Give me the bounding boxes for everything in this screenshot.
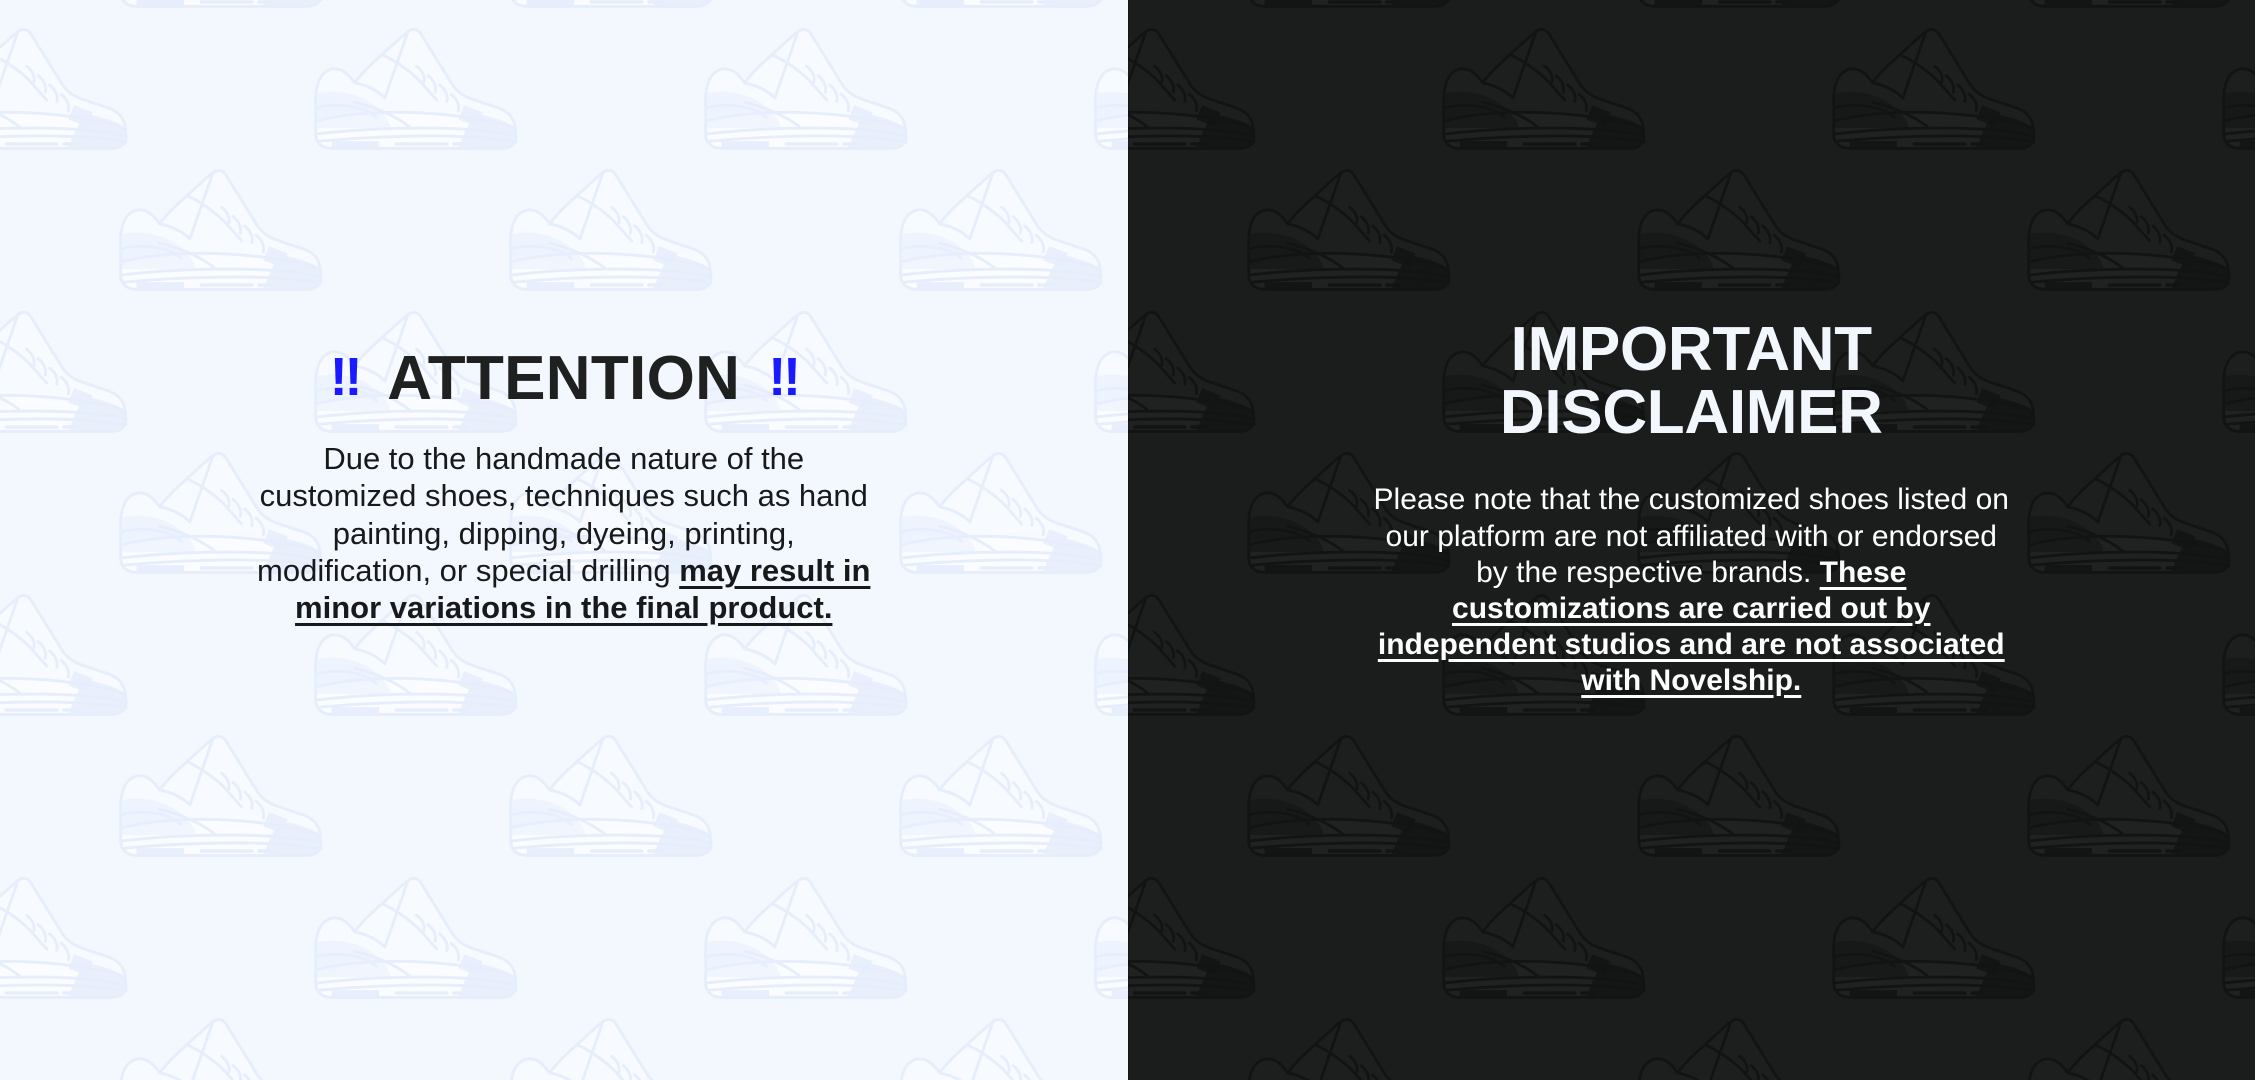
attention-content: !! ATTENTION !! Due to the handmade natu… <box>0 0 1128 627</box>
attention-body: Due to the handmade nature of the custom… <box>254 440 874 627</box>
attention-panel: !! ATTENTION !! Due to the handmade natu… <box>0 0 1128 1080</box>
double-exclamation-mark-icon-right: !! <box>768 350 798 404</box>
disclaimer-heading-line-2: DISCLAIMER <box>1500 378 1883 447</box>
disclaimer-body: Please note that the customized shoes li… <box>1366 482 2016 699</box>
disclaimer-body-plain: Please note that the customized shoes li… <box>1374 483 2009 588</box>
disclaimer-panel: IMPORTANT DISCLAIMER Please note that th… <box>1128 0 2255 1080</box>
attention-heading-text: ATTENTION <box>387 348 740 410</box>
disclaimer-content: IMPORTANT DISCLAIMER Please note that th… <box>1128 0 2255 699</box>
panel-divider <box>1128 0 1129 1080</box>
disclaimer-banner: !! ATTENTION !! Due to the handmade natu… <box>0 0 2255 1080</box>
attention-heading: !! ATTENTION !! <box>330 348 798 410</box>
disclaimer-heading: IMPORTANT DISCLAIMER <box>1500 318 1883 444</box>
disclaimer-heading-line-1: IMPORTANT <box>1511 315 1872 384</box>
double-exclamation-mark-icon-left: !! <box>330 350 360 404</box>
